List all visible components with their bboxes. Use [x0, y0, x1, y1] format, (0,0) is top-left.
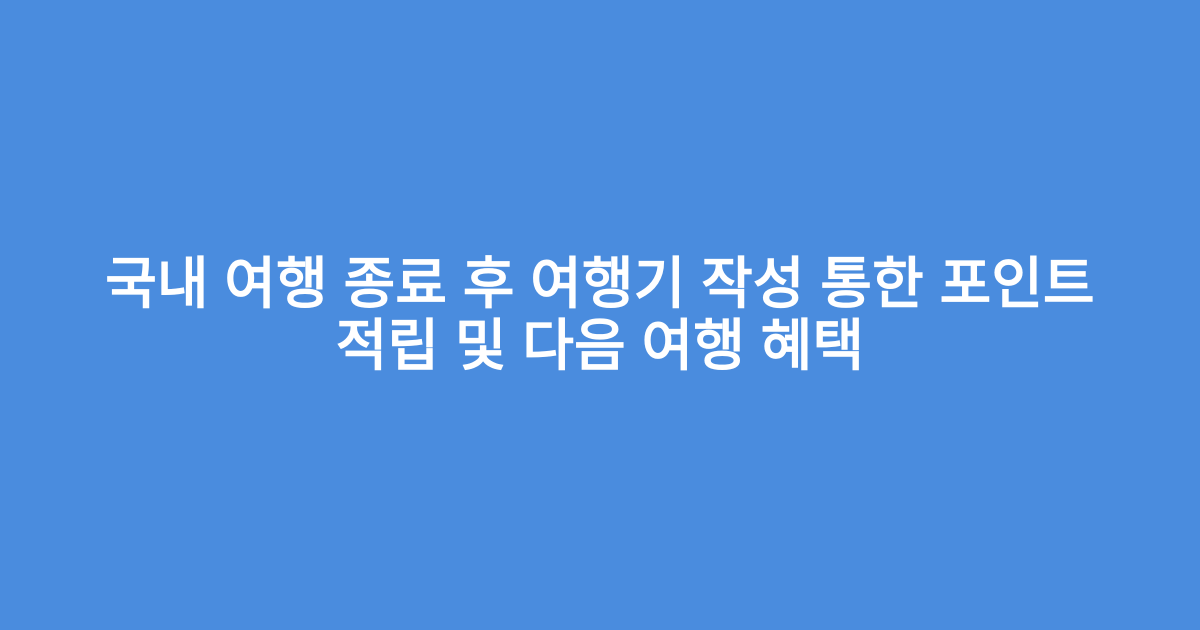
- page-title: 국내 여행 종료 후 여행기 작성 통한 포인트 적립 및 다음 여행 혜택: [90, 253, 1110, 377]
- headline-block: 국내 여행 종료 후 여행기 작성 통한 포인트 적립 및 다음 여행 혜택: [80, 253, 1120, 377]
- banner-card: 국내 여행 종료 후 여행기 작성 통한 포인트 적립 및 다음 여행 혜택: [0, 0, 1200, 630]
